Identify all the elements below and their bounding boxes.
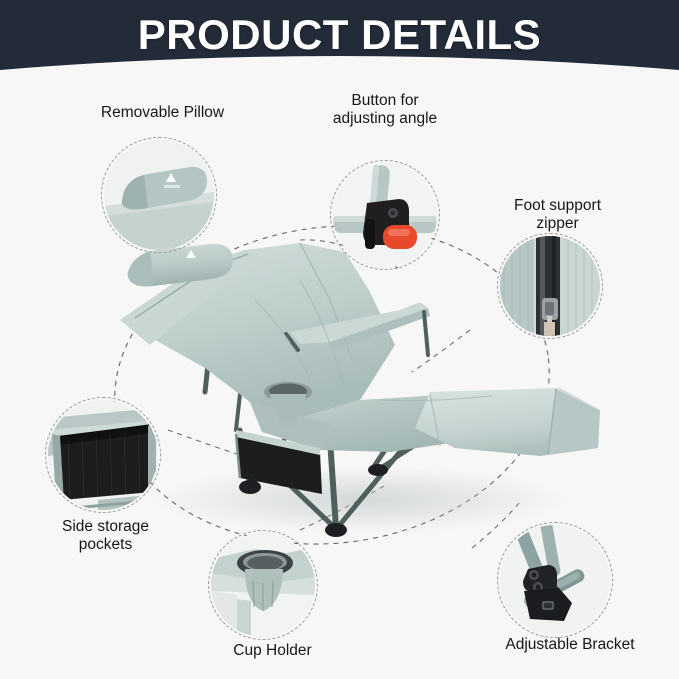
- page-title: PRODUCT DETAILS: [0, 11, 679, 59]
- callout-label-removable-pillow: Removable Pillow: [55, 104, 270, 122]
- callout-label-adjustable-bracket: Adjustable Bracket: [460, 636, 679, 654]
- inset-photo-cup-holder: [211, 533, 315, 637]
- callout-label-cup-holder: Cup Holder: [185, 642, 360, 660]
- inset-photo-adjusting-button: [333, 163, 437, 267]
- callout-label-side-storage-pockets: Side storage pockets: [18, 518, 193, 555]
- inset-photo-side-storage-pockets: [48, 400, 158, 510]
- inset-photo-adjustable-bracket: [500, 525, 610, 635]
- inset-photo-removable-pillow: [104, 140, 214, 250]
- callout-label-foot-support-zipper: Foot support zipper: [470, 197, 645, 234]
- callout-label-adjusting-button: Button for adjusting angle: [300, 92, 470, 129]
- inset-photo-foot-support-zipper: [500, 236, 600, 336]
- product-details-page: PRODUCT DETAILS Removable Pillow Button …: [0, 0, 679, 679]
